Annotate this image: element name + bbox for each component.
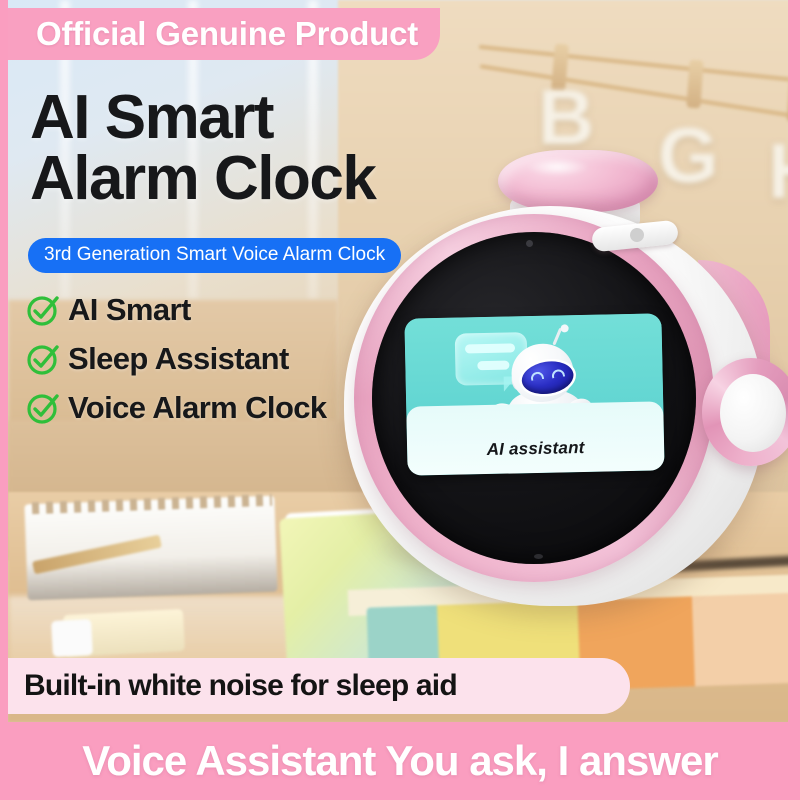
subtitle-label: 3rd Generation Smart Voice Alarm Clock (44, 244, 385, 265)
knob-face (720, 374, 786, 452)
feature-list: AI Smart Sleep Assistant Voice Alarm Clo… (26, 292, 327, 439)
sensor-dot (526, 240, 533, 247)
eraser-cap (51, 619, 93, 657)
ad-creative-canvas: B G H (0, 0, 800, 800)
feature-label: Voice Alarm Clock (68, 390, 327, 426)
page-title-line2: Alarm Clock (30, 149, 375, 210)
feature-item: Voice Alarm Clock (26, 390, 327, 426)
frame-border-left (0, 0, 8, 800)
frame-border-right (788, 0, 800, 800)
check-circle-icon (26, 293, 60, 327)
product-image: AI assistant (330, 140, 800, 630)
white-noise-banner: Built-in white noise for sleep aid (0, 658, 630, 714)
speech-bubble-line (465, 343, 515, 353)
white-noise-banner-label: Built-in white noise for sleep aid (24, 669, 457, 703)
subtitle-pill: 3rd Generation Smart Voice Alarm Clock (28, 238, 401, 273)
page-title: AI Smart Alarm Clock (30, 88, 375, 210)
feature-item: AI Smart (26, 292, 327, 328)
official-product-badge: Official Genuine Product (8, 8, 440, 60)
check-circle-icon (26, 391, 60, 425)
microphone-slot (534, 554, 543, 559)
check-circle-icon (26, 342, 60, 376)
official-product-badge-label: Official Genuine Product (36, 15, 418, 53)
feature-label: Sleep Assistant (68, 341, 289, 377)
feature-item: Sleep Assistant (26, 341, 327, 377)
speech-bubble-line (477, 361, 509, 371)
screen-content-card[interactable]: AI assistant (404, 313, 664, 475)
page-title-line1: AI Smart (30, 83, 273, 152)
button-highlight (526, 158, 590, 176)
footer-banner: Voice Assistant You ask, I answer (0, 722, 800, 800)
footer-label: Voice Assistant You ask, I answer (82, 737, 717, 785)
feature-label: AI Smart (68, 292, 191, 328)
